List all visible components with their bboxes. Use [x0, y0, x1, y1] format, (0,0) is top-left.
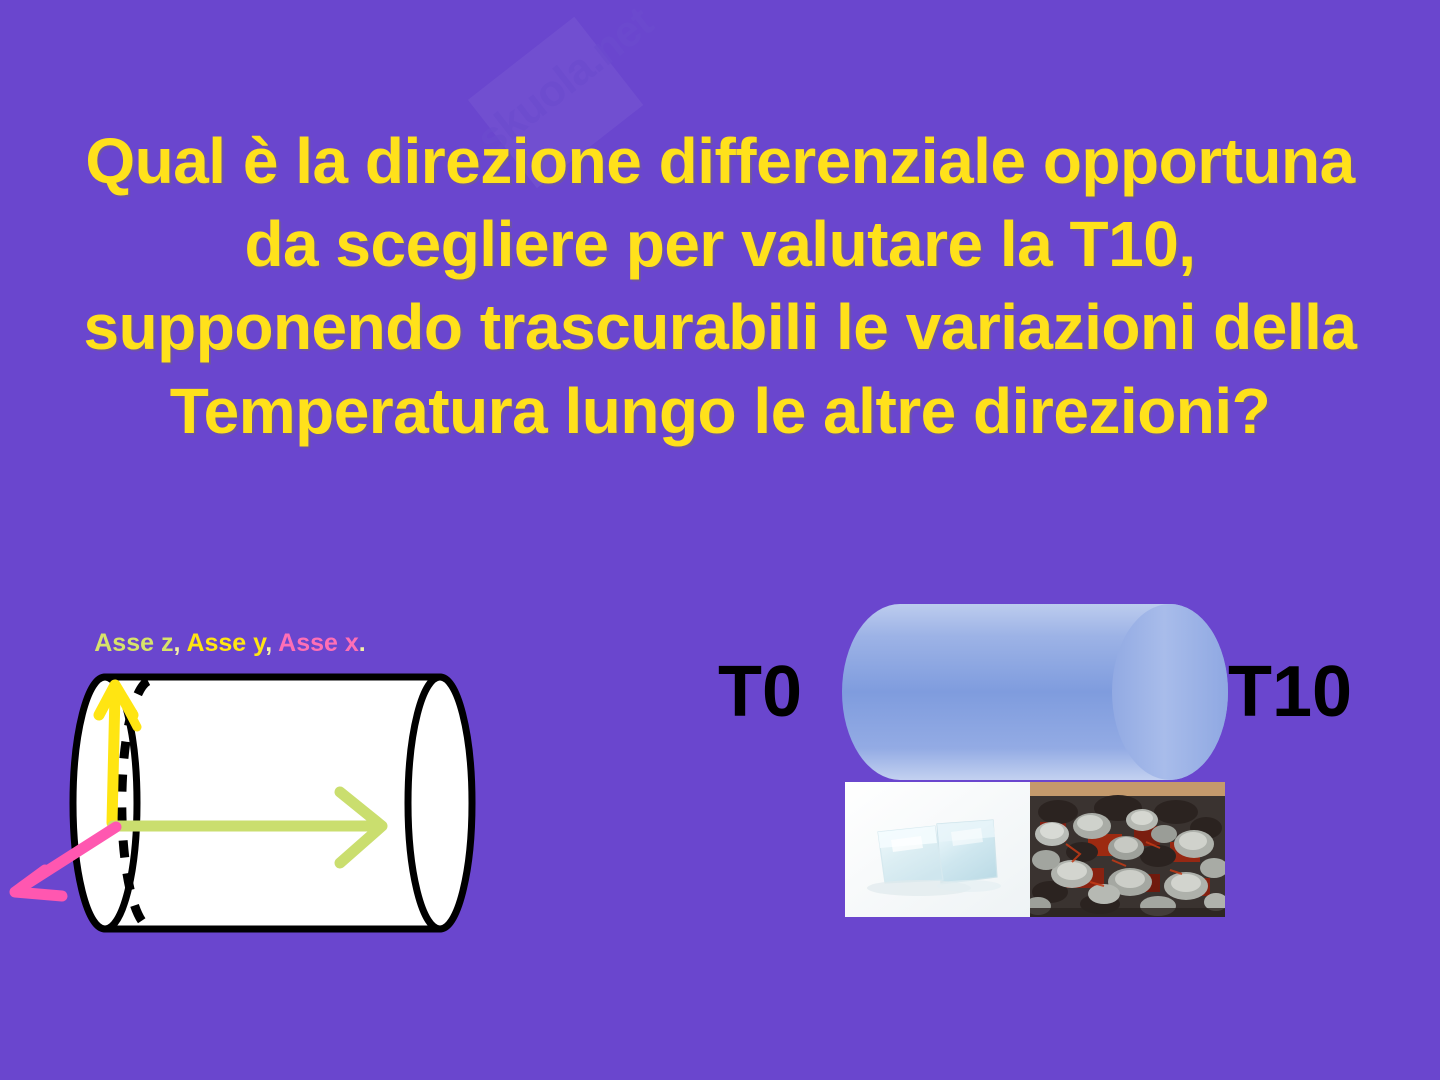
- cylinder-axes-svg: [0, 615, 520, 975]
- ice-cubes-photo: [845, 782, 1030, 917]
- axes-cylinder-diagram: Asse z, Asse y, Asse x.: [0, 615, 520, 975]
- slide-canvas: skuola.net Qual è la direzione differenz…: [0, 0, 1440, 1080]
- label-t10: T10: [1228, 656, 1352, 728]
- label-t0: T0: [718, 656, 802, 728]
- burning-coals-photo: [1030, 782, 1225, 917]
- blue-cylinder: [840, 602, 1230, 782]
- temperature-cylinder-diagram: T0 T10: [700, 590, 1440, 950]
- page-title: Qual è la direzione differenziale opport…: [50, 120, 1390, 453]
